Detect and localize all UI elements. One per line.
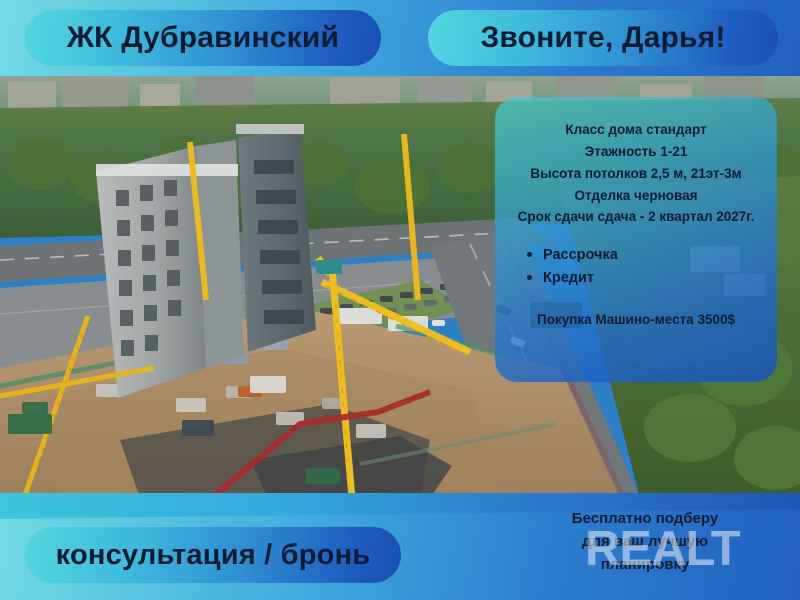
spec-floors: Этажность 1-21 — [507, 141, 765, 163]
badge-call-agent[interactable]: Звоните, Дарья! — [428, 10, 778, 66]
parking-price: Покупка Машино-места 3500$ — [507, 309, 765, 331]
payment-options-list: Рассрочка Кредит — [521, 244, 765, 289]
badge-consultation-booking[interactable]: консультация / бронь — [25, 527, 401, 583]
tagline-line-2: для ваш лучшую — [500, 531, 790, 554]
badge-complex-name[interactable]: ЖК Дубравинский — [25, 10, 381, 66]
payment-option-installment: Рассрочка — [521, 244, 765, 266]
spec-finishing: Отделка черновая — [507, 185, 765, 207]
spec-completion-date: Срок сдачи сдача - 2 квартал 2027г. — [507, 206, 765, 228]
property-info-panel: Класс дома стандарт Этажность 1-21 Высот… — [495, 97, 777, 382]
spec-house-class: Класс дома стандарт — [507, 119, 765, 141]
spec-ceiling-height: Высота потолков 2,5 м, 21эт-3м — [507, 163, 765, 185]
promo-banner: ЖК Дубравинский Звоните, Дарья! Класс до… — [0, 0, 800, 600]
footer-tagline: Бесплатно подберу для ваш лучшую планиро… — [500, 508, 790, 576]
tagline-line-1: Бесплатно подберу — [500, 508, 790, 531]
tagline-line-3: планировку — [500, 554, 790, 577]
payment-option-credit: Кредит — [521, 267, 765, 289]
property-specs-list: Класс дома стандарт Этажность 1-21 Высот… — [507, 119, 765, 228]
